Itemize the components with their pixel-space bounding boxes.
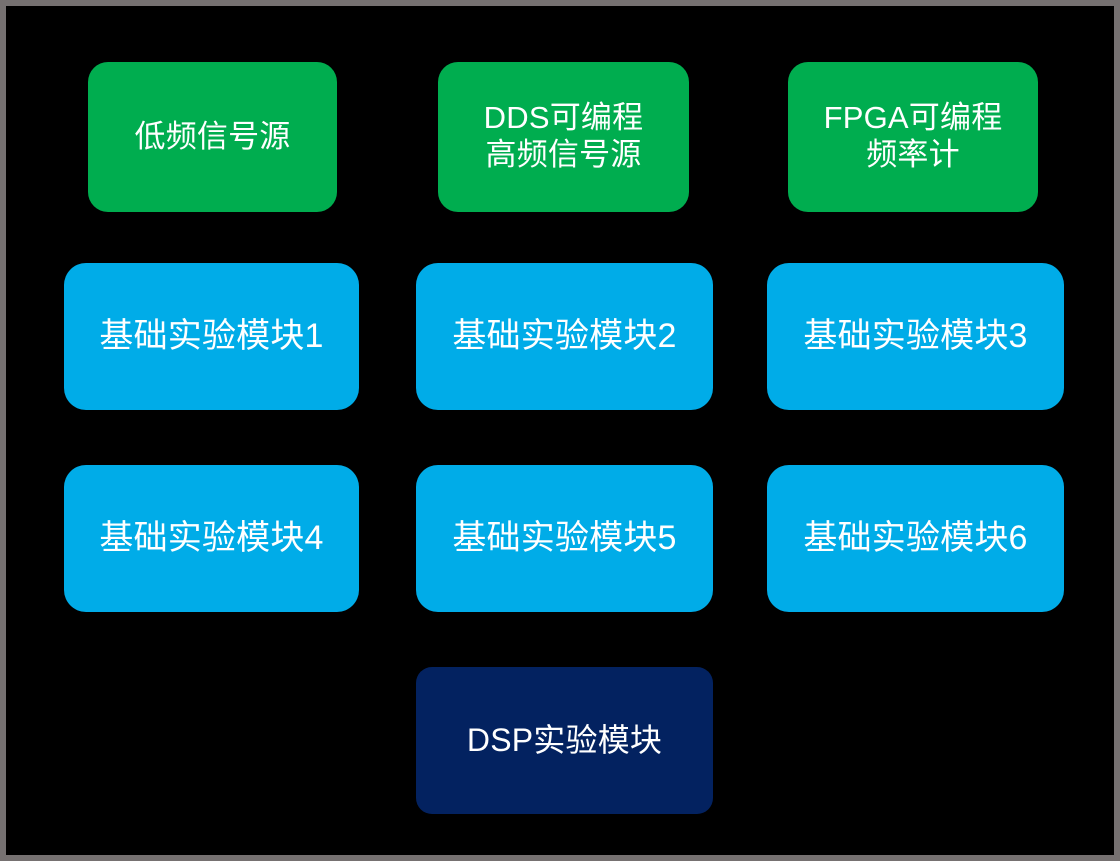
node-low-freq-source[interactable]: 低频信号源	[88, 62, 337, 212]
node-basic-module-2[interactable]: 基础实验模块2	[416, 263, 713, 410]
node-basic-module-4[interactable]: 基础实验模块4	[64, 465, 359, 612]
node-basic-module-3[interactable]: 基础实验模块3	[767, 263, 1064, 410]
node-basic-module-1[interactable]: 基础实验模块1	[64, 263, 359, 410]
node-basic-module-5[interactable]: 基础实验模块5	[416, 465, 713, 612]
diagram-canvas: 低频信号源 DDS可编程 高频信号源 FPGA可编程 频率计 基础实验模块1 基…	[6, 6, 1114, 855]
node-dsp-module[interactable]: DSP实验模块	[416, 667, 713, 814]
node-fpga-counter[interactable]: FPGA可编程 频率计	[788, 62, 1038, 212]
node-dds-source[interactable]: DDS可编程 高频信号源	[438, 62, 689, 212]
diagram-frame: 低频信号源 DDS可编程 高频信号源 FPGA可编程 频率计 基础实验模块1 基…	[0, 0, 1120, 861]
node-basic-module-6[interactable]: 基础实验模块6	[767, 465, 1064, 612]
